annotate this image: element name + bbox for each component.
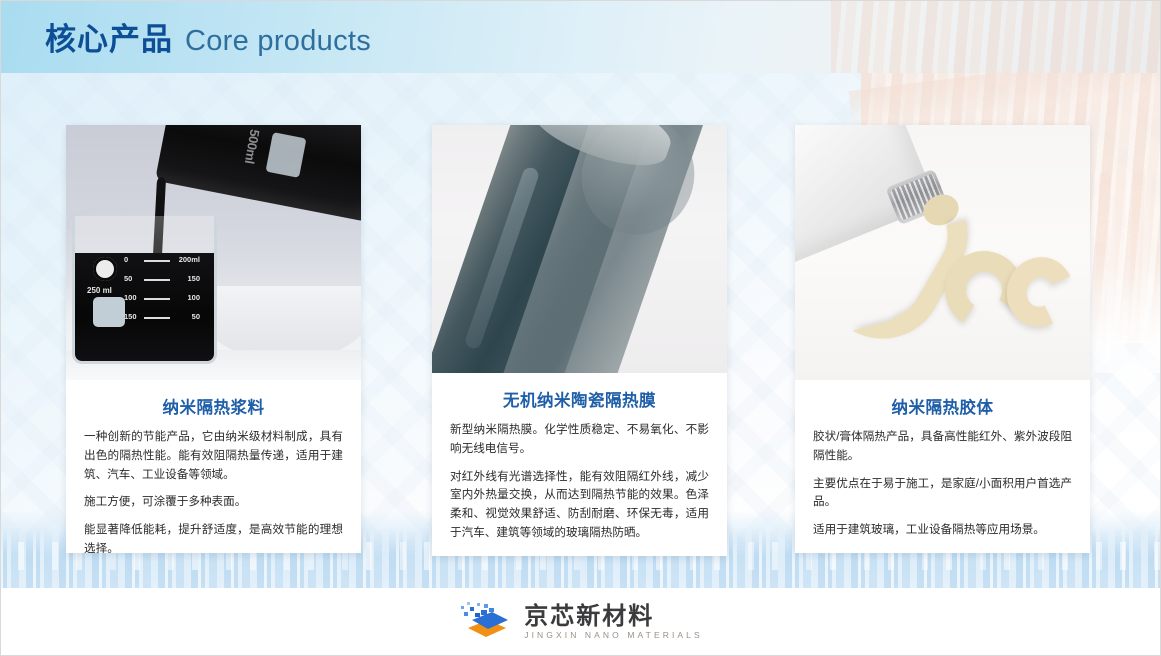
card-title: 纳米隔热浆料: [84, 394, 343, 418]
page-title-cn: 核心产品: [45, 24, 173, 55]
graduation-left-label: 100: [124, 293, 137, 302]
header-content: 核心产品 Core products: [0, 0, 1161, 73]
product-card-colloid[interactable]: 纳米隔热胶体 胶状/膏体隔热产品，具备高性能红外、紫外波段阻隔性能。 主要优点在…: [795, 125, 1090, 553]
product-image-slurry: 500ml 250 ml 0 200ml 50 150: [66, 125, 361, 380]
graduation-right-label: 100: [187, 293, 200, 302]
graduation-tick-icon: [144, 317, 170, 319]
graduation-right-label: 200ml: [179, 255, 200, 264]
beaker-volume-label: 250 ml: [87, 286, 112, 295]
page-title-en: Core products: [185, 27, 371, 56]
product-card-slurry[interactable]: 500ml 250 ml 0 200ml 50 150: [66, 125, 361, 553]
graduation-row: 100 100: [124, 293, 200, 312]
card-title: 无机纳米陶瓷隔热膜: [450, 387, 709, 411]
card-body: 纳米隔热胶体 胶状/膏体隔热产品，具备高性能红外、紫外波段阻隔性能。 主要优点在…: [795, 380, 1090, 550]
card-paragraph: 能显著降低能耗，提升舒适度，是高效节能的理想选择。: [84, 521, 343, 553]
beaker-shape: 250 ml 0 200ml 50 150 100: [72, 216, 217, 364]
graduation-left-label: 0: [124, 255, 128, 264]
beaker-brand-icon: [93, 257, 117, 281]
card-paragraph: 胶状/膏体隔热产品，具备高性能红外、紫外波段阻隔性能。: [813, 428, 1072, 466]
logo-name-cn: 京芯新材料: [524, 605, 703, 629]
graduation-right-label: 150: [187, 274, 200, 283]
card-paragraph: 主要优点在于易于施工，是家庭/小面积用户首选产品。: [813, 475, 1072, 513]
graduation-right-label: 50: [192, 312, 200, 321]
product-image-ceramic-film: [432, 125, 727, 373]
header-band: 核心产品 Core products: [0, 0, 1161, 73]
logo-svg: [458, 601, 512, 643]
graduation-tick-icon: [144, 279, 170, 281]
product-image-colloid: [795, 125, 1090, 380]
card-paragraph: 施工方便，可涂覆于多种表面。: [84, 493, 343, 512]
slide-root: 核心产品 Core products 500ml 250 ml 0: [0, 0, 1161, 656]
graduation-left-label: 50: [124, 274, 132, 283]
card-body: 无机纳米陶瓷隔热膜 新型纳米隔热膜。化学性质稳定、不易氧化、不影响无线电信号。 …: [432, 373, 727, 553]
product-card-ceramic-film[interactable]: 无机纳米陶瓷隔热膜 新型纳米隔热膜。化学性质稳定、不易氧化、不影响无线电信号。 …: [432, 125, 727, 556]
logo-name-en: JINGXIN NANO MATERIALS: [524, 631, 703, 640]
logo-mark-icon: [458, 601, 512, 643]
card-title: 纳米隔热胶体: [813, 394, 1072, 418]
graduation-row: 50 150: [124, 274, 200, 293]
graduation-row: 0 200ml: [124, 255, 200, 274]
card-paragraph: 对红外线有光谱选择性，能有效阻隔红外线，减少室内外热量交换，从而达到隔热节能的效…: [450, 468, 709, 543]
graduation-row: 150 50: [124, 312, 200, 331]
beaker-sticker-shape: [93, 297, 125, 327]
beaker-graduations: 0 200ml 50 150 100 100: [124, 255, 200, 333]
card-paragraph: 一种创新的节能产品，它由纳米级材料制成，具有出色的隔热性能。能有效阻隔热量传递，…: [84, 428, 343, 484]
footer: 京芯新材料 JINGXIN NANO MATERIALS: [0, 588, 1161, 656]
graduation-tick-icon: [144, 298, 170, 300]
graduation-tick-icon: [144, 260, 170, 262]
company-logo[interactable]: 京芯新材料 JINGXIN NANO MATERIALS: [458, 601, 703, 643]
card-paragraph: 适用于建筑玻璃，工业设备隔热等应用场景。: [813, 521, 1072, 540]
graduation-left-label: 150: [124, 312, 137, 321]
card-paragraph: 新型纳米隔热膜。化学性质稳定、不易氧化、不影响无线电信号。: [450, 421, 709, 459]
logo-text: 京芯新材料 JINGXIN NANO MATERIALS: [524, 605, 703, 640]
card-body: 纳米隔热浆料 一种创新的节能产品，它由纳米级材料制成，具有出色的隔热性能。能有效…: [66, 380, 361, 553]
